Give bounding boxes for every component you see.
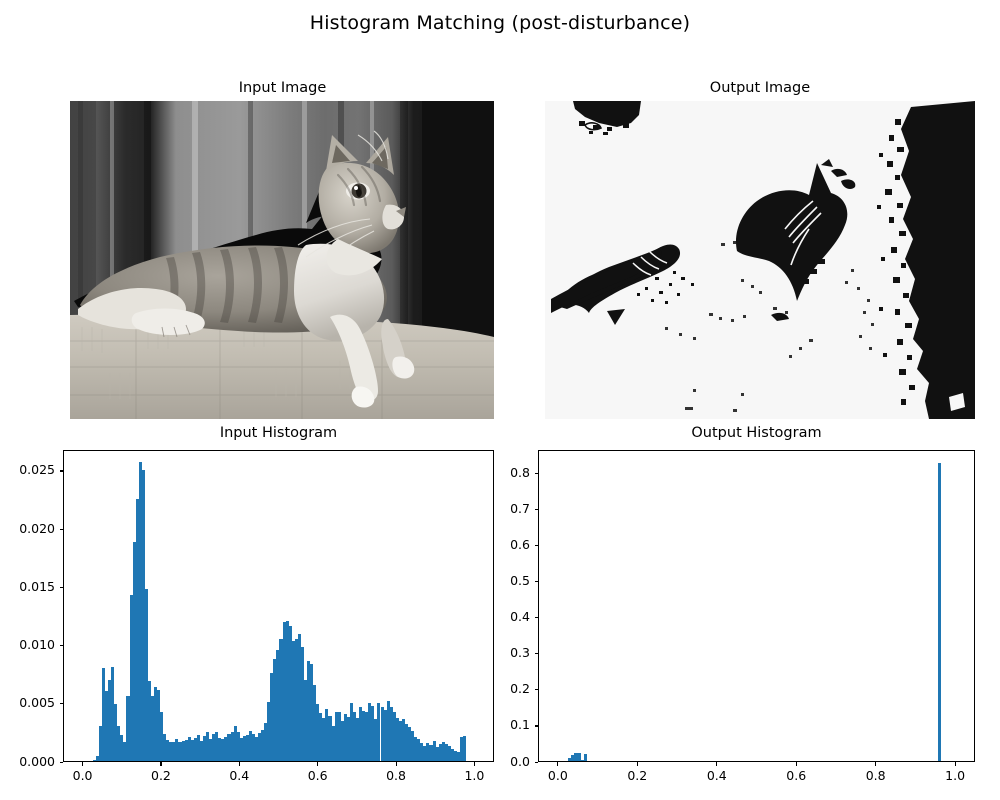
y-tickmark [535,762,539,763]
y-tick-label: 0.2 [442,681,530,696]
x-tickmark [796,762,797,766]
output-histogram-axes [538,450,975,762]
x-tickmark [716,762,717,766]
x-tickmark [239,762,240,766]
y-tick-label: 0.8 [442,465,530,480]
input-image-render [70,101,494,419]
histogram-bar [584,754,587,761]
y-tick-label: 0.025 [0,462,55,477]
y-tick-label: 0.7 [442,501,530,516]
x-tickmark [317,762,318,766]
x-tick-label: 0.0 [43,768,123,783]
y-tickmark [60,762,64,763]
input-image-panel [70,101,494,419]
output-image-render [545,101,975,419]
y-tick-label: 0.6 [442,537,530,552]
y-tickmark [60,645,64,646]
output-histogram-bars [539,451,974,761]
y-tick-label: 0.020 [0,521,55,536]
input-image-title: Input Image [70,80,495,96]
x-tickmark [557,762,558,766]
x-tick-label: 1.0 [434,768,514,783]
y-tickmark [535,725,539,726]
y-tickmark [60,529,64,530]
y-tickmark [60,703,64,704]
y-tick-label: 0.015 [0,579,55,594]
x-tick-label: 0.6 [756,768,836,783]
x-tick-label: 0.2 [597,768,677,783]
y-tickmark [60,470,64,471]
y-tickmark [535,617,539,618]
y-tick-label: 0.000 [0,754,55,769]
matplotlib-figure: Histogram Matching (post-disturbance) In… [0,0,1000,800]
y-tickmark [535,689,539,690]
y-tickmark [60,587,64,588]
y-tick-label: 0.5 [442,573,530,588]
x-tickmark [955,762,956,766]
figure-suptitle: Histogram Matching (post-disturbance) [0,12,1000,34]
y-tick-label: 0.0 [442,754,530,769]
x-tickmark [396,762,397,766]
y-tick-label: 0.005 [0,695,55,710]
x-tick-label: 0.8 [356,768,436,783]
y-tick-label: 0.1 [442,717,530,732]
output-image-title: Output Image [545,80,975,96]
x-tick-label: 0.6 [278,768,358,783]
y-tickmark [535,473,539,474]
input-histogram-bars [64,451,493,761]
histogram-bar [938,463,941,761]
output-image-panel [545,101,975,419]
x-tick-label: 0.0 [518,768,598,783]
y-tick-label: 0.4 [442,609,530,624]
y-tickmark [535,653,539,654]
x-tick-label: 1.0 [915,768,995,783]
x-tickmark [637,762,638,766]
output-histogram-title: Output Histogram [538,425,975,441]
x-tickmark [160,762,161,766]
x-tick-label: 0.4 [199,768,279,783]
x-tickmark [875,762,876,766]
x-tick-label: 0.2 [121,768,201,783]
y-tickmark [535,581,539,582]
input-histogram-axes [63,450,494,762]
x-tick-label: 0.8 [836,768,916,783]
input-histogram-title: Input Histogram [63,425,494,441]
x-tickmark [82,762,83,766]
y-tick-label: 0.3 [442,645,530,660]
x-tick-label: 0.4 [677,768,757,783]
y-tickmark [535,509,539,510]
y-tickmark [535,545,539,546]
y-tick-label: 0.010 [0,637,55,652]
